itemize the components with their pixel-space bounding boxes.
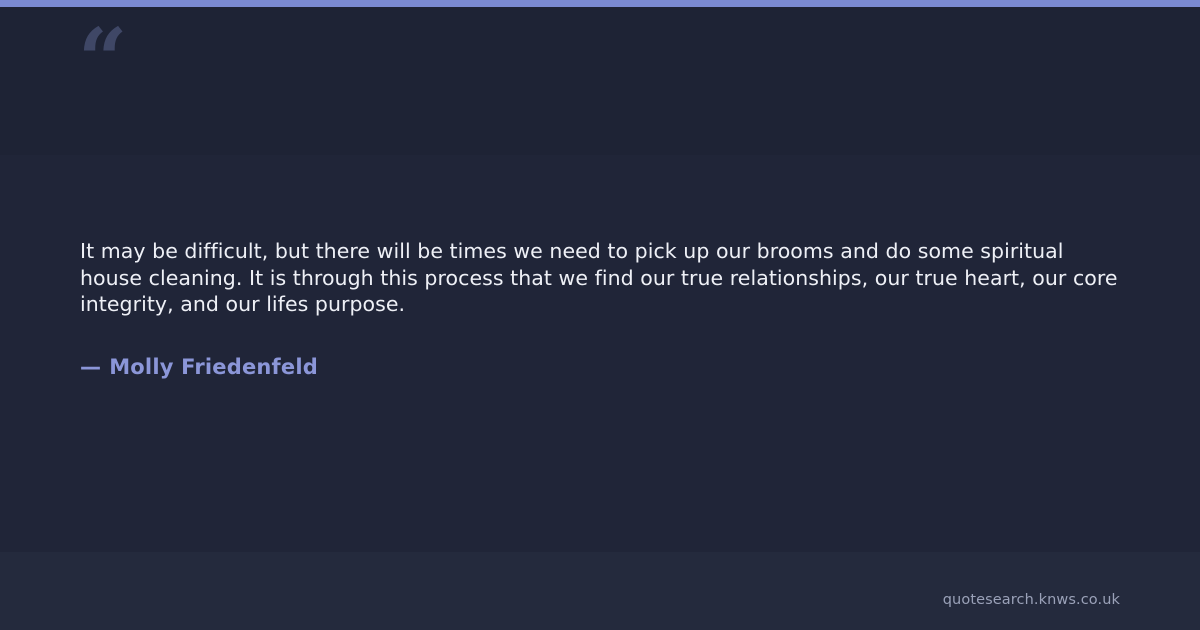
author-name: Molly Friedenfeld	[109, 355, 318, 379]
open-quote-icon: “	[78, 18, 125, 104]
quote-text: It may be difficult, but there will be t…	[80, 238, 1120, 318]
quote-body: It may be difficult, but there will be t…	[80, 238, 1120, 380]
top-accent-bar	[0, 0, 1200, 7]
background-band-upper	[0, 7, 1200, 155]
quote-attribution: —Molly Friedenfeld	[80, 318, 1120, 380]
quote-card: “ It may be difficult, but there will be…	[0, 0, 1200, 630]
source-url: quotesearch.knws.co.uk	[943, 591, 1120, 609]
attribution-dash: —	[80, 355, 101, 379]
